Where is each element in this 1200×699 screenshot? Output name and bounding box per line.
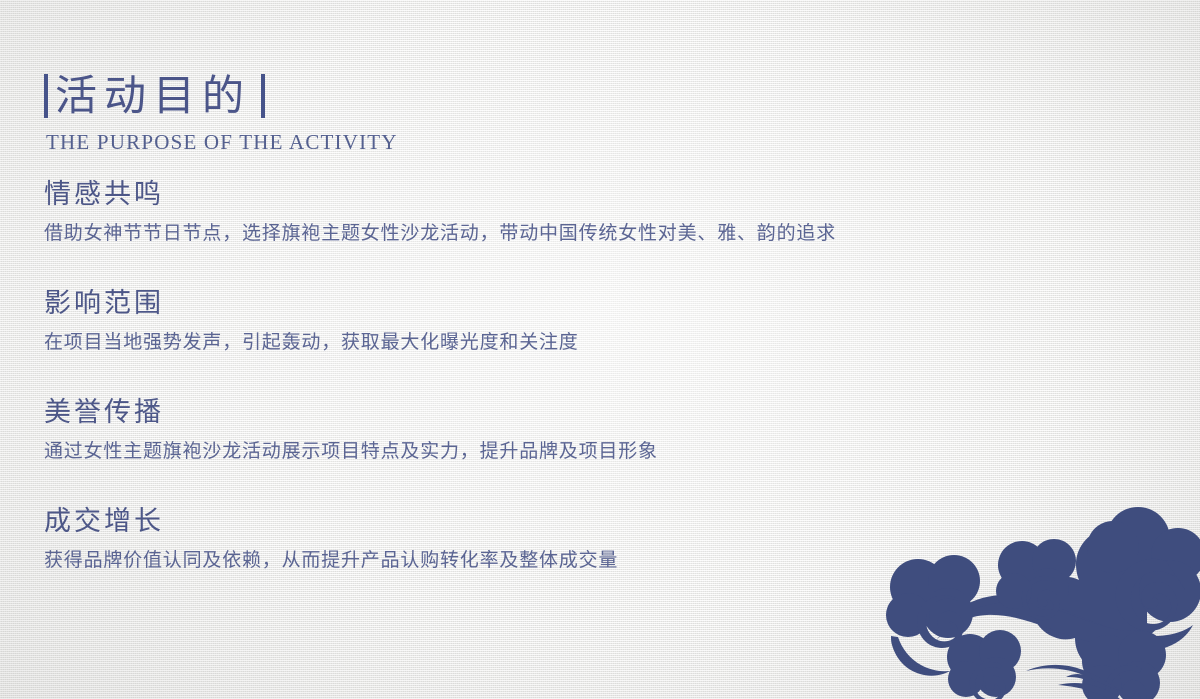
slide-content: 活动目的 THE PURPOSE OF THE ACTIVITY 情感共鸣 借助… xyxy=(0,0,1200,699)
title-right-bar-icon xyxy=(261,74,265,118)
section-heading: 影响范围 xyxy=(44,287,1144,321)
section-body: 借助女神节节日节点，选择旗袍主题女性沙龙活动，带动中国传统女性对美、雅、韵的追求 xyxy=(44,219,1144,247)
section-item: 情感共鸣 借助女神节节日节点，选择旗袍主题女性沙龙活动，带动中国传统女性对美、雅… xyxy=(44,178,1144,247)
section-body: 通过女性主题旗袍沙龙活动展示项目特点及实力，提升品牌及项目形象 xyxy=(44,437,1144,465)
slide-canvas: 活动目的 THE PURPOSE OF THE ACTIVITY 情感共鸣 借助… xyxy=(0,0,1200,699)
title-left-bar-icon xyxy=(44,74,48,118)
section-heading: 美誉传播 xyxy=(44,396,1144,430)
auspicious-cloud-icon xyxy=(870,499,1200,699)
page-title: 活动目的 THE PURPOSE OF THE ACTIVITY xyxy=(44,68,398,154)
page-title-en: THE PURPOSE OF THE ACTIVITY xyxy=(46,130,398,154)
section-heading: 情感共鸣 xyxy=(44,178,1144,212)
section-item: 美誉传播 通过女性主题旗袍沙龙活动展示项目特点及实力，提升品牌及项目形象 xyxy=(44,396,1144,465)
title-row: 活动目的 xyxy=(44,68,398,124)
auspicious-cloud-svg xyxy=(870,499,1200,699)
section-body: 在项目当地强势发声，引起轰动，获取最大化曝光度和关注度 xyxy=(44,328,1144,356)
section-item: 影响范围 在项目当地强势发声，引起轰动，获取最大化曝光度和关注度 xyxy=(44,287,1144,356)
page-title-cn: 活动目的 xyxy=(55,74,251,118)
